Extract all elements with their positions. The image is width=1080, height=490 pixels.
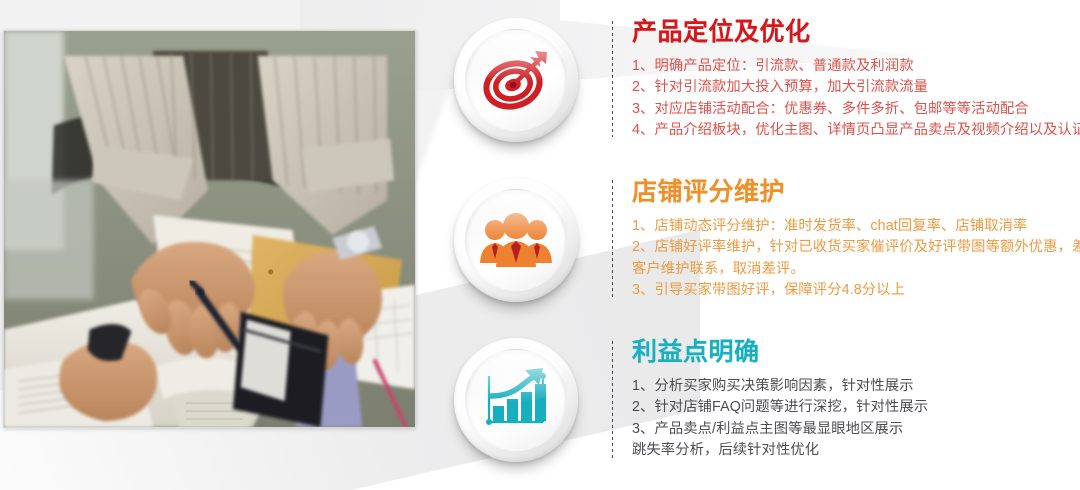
badge-inner [465, 29, 567, 131]
bar-chart-growth-icon [481, 368, 551, 432]
section-line: 1、分析买家购买决策影响因素，针对性展示 [632, 376, 928, 398]
section-divider-3 [612, 341, 613, 461]
section-title-3: 利益点明确 [632, 338, 928, 367]
section-divider-1 [612, 21, 613, 137]
section-divider-2 [612, 180, 613, 298]
section-line: 2、针对店铺FAQ问题等进行深挖，针对性展示 [632, 397, 928, 419]
section-lines-3: 1、分析买家购买决策影响因素，针对性展示 2、针对店铺FAQ问题等进行深挖，针对… [632, 376, 928, 462]
section-lines-1: 1、明确产品定位：引流款、普通款及利润款 2、针对引流款加大投入预算，加大引流款… [632, 56, 1080, 142]
section-text-1: 产品定位及优化 1、明确产品定位：引流款、普通款及利润款 2、针对引流款加大投入… [632, 14, 1080, 142]
badge-inner [465, 189, 567, 291]
section-text-2: 店铺评分维护 1、店铺动态评分维护：准时发货率、chat回复率、店铺取消率 2、… [632, 174, 1080, 302]
section-line: 4、产品介绍板块，优化主图、详情页凸显产品卖点及视频介绍以及认证 [632, 120, 1080, 142]
badge-product-positioning[interactable] [448, 14, 583, 149]
badge-benefit-points[interactable] [448, 334, 583, 469]
section-line: 2、针对引流款加大投入预算，加大引流款流量 [632, 77, 1080, 99]
section-line: 3、对应店铺活动配合：优惠券、多件多折、包邮等等活动配合 [632, 99, 1080, 121]
section-line: 3、产品卖点/利益点主图等最显眼地区展示 [632, 419, 928, 441]
section-line: 跳失率分析，后续针对性优化 [632, 440, 928, 462]
people-group-icon [478, 209, 554, 271]
section-line: 2、店铺好评率维护，针对已收货买家催评价及好评带图等额外优惠，差评 [632, 237, 1080, 259]
hero-photo [3, 30, 416, 428]
section-benefit-points: 利益点明确 1、分析买家购买决策影响因素，针对性展示 2、针对店铺FAQ问题等进… [448, 334, 928, 469]
section-title-2: 店铺评分维护 [632, 178, 1080, 207]
section-text-3: 利益点明确 1、分析买家购买决策影响因素，针对性展示 2、针对店铺FAQ问题等进… [632, 334, 928, 462]
hero-photo-illustration [4, 31, 415, 427]
badge-store-rating[interactable] [448, 174, 583, 309]
badge-inner [465, 349, 567, 451]
target-arrow-icon [479, 43, 553, 117]
section-store-rating-maintenance: 店铺评分维护 1、店铺动态评分维护：准时发货率、chat回复率、店铺取消率 2、… [448, 174, 1080, 309]
section-line: 1、店铺动态评分维护：准时发货率、chat回复率、店铺取消率 [632, 216, 1080, 238]
section-product-positioning: 产品定位及优化 1、明确产品定位：引流款、普通款及利润款 2、针对引流款加大投入… [448, 14, 1080, 149]
section-line: 客户维护联系，取消差评。 [632, 259, 1080, 281]
section-line: 3、引导买家带图好评，保障评分4.8分以上 [632, 280, 1080, 302]
section-title-1: 产品定位及优化 [632, 18, 1080, 47]
section-line: 1、明确产品定位：引流款、普通款及利润款 [632, 56, 1080, 78]
section-lines-2: 1、店铺动态评分维护：准时发货率、chat回复率、店铺取消率 2、店铺好评率维护… [632, 216, 1080, 302]
